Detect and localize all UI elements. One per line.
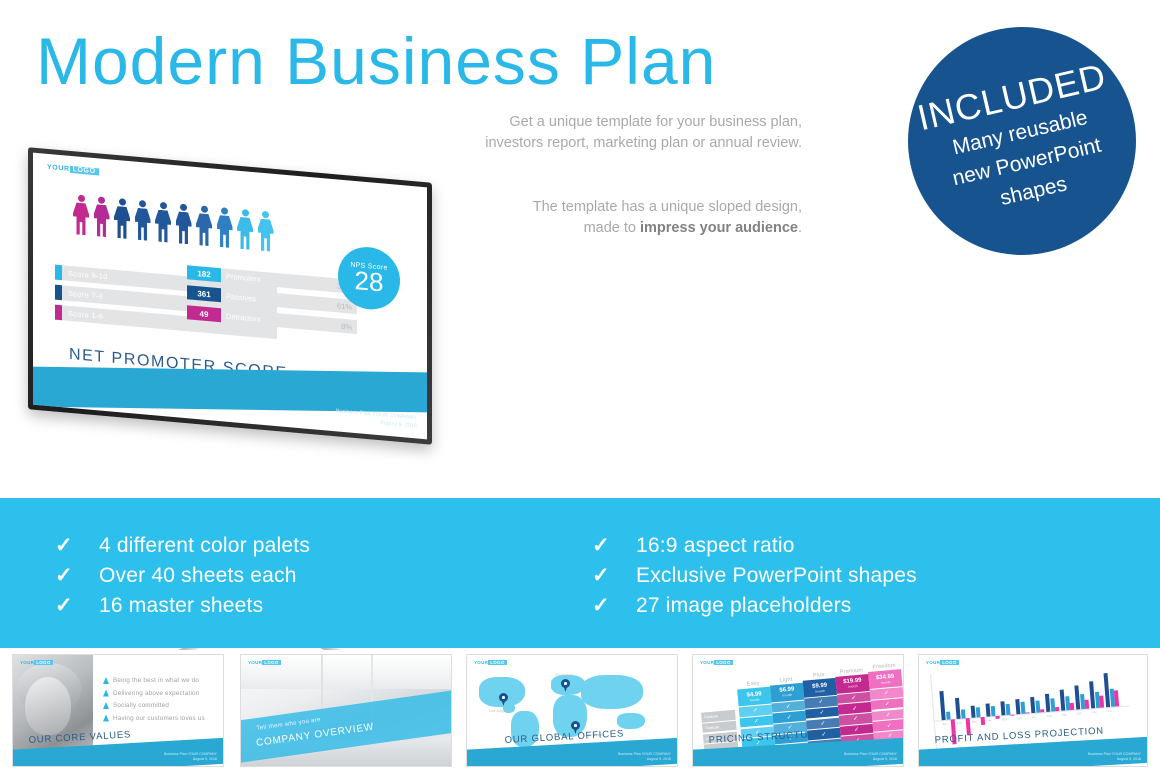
chart-bar [955, 698, 961, 719]
thumbnail-logo: YOURLOGO [248, 660, 281, 665]
person-body [217, 215, 233, 248]
thumbnail-global-offices-inner: YOURLOGO [467, 655, 677, 766]
thumbnail-logo-highlight: LOGO [488, 660, 506, 665]
chart-x-tick: Oct [1076, 711, 1081, 715]
feature-item: ✓16 master sheets [55, 590, 310, 620]
thumbnail-footer-line-2: August 9, 2016 [164, 757, 217, 762]
person-head [262, 211, 269, 219]
feature-item: ✓4 different color palets [55, 530, 310, 560]
chart-bar [975, 707, 980, 717]
thumbnail-logo: YOURLOGO [926, 660, 959, 665]
chart-bar [939, 691, 945, 720]
chart-bar [1011, 714, 1015, 715]
thumbnail-footer-line-2: August 9, 2016 [1088, 757, 1141, 762]
score-range-label: Score 9-10 [62, 268, 108, 281]
person-body [114, 206, 130, 239]
thumbnail-core-values[interactable]: YOURLOGO Being the best in what we doDel… [12, 654, 224, 767]
map-pin-dot [574, 724, 577, 727]
pricing-plan-price: $19.99/month [835, 674, 869, 694]
person-body [196, 213, 212, 246]
core-value-item: Having our customers loves us [103, 715, 205, 722]
person-body [135, 208, 151, 241]
thumbnail-logo: YOURLOGO [20, 660, 53, 665]
chart-x-tick: Mar [972, 719, 977, 723]
thumbnail-logo-prefix: YOUR [248, 660, 262, 665]
map-city-label: Stockholm [555, 673, 574, 677]
pricing-plan-price: $9.99/month [803, 678, 837, 698]
feature-label: Exclusive PowerPoint shapes [636, 565, 917, 586]
core-value-label: Being the best in what we do [113, 677, 199, 684]
features-band: ✓4 different color palets✓Over 40 sheets… [0, 498, 1160, 648]
slide-logo: YOURLOGO [47, 164, 99, 176]
subtitle-line-4-prefix: made to [584, 220, 640, 236]
pricing-plan-price: $4.99/month [737, 687, 771, 707]
score-range-tick [55, 285, 62, 301]
person-head [139, 200, 146, 208]
thumbnail-logo-prefix: YOUR [474, 660, 488, 665]
person-body [155, 209, 171, 242]
score-percent: 8% [341, 321, 352, 331]
person-icon [176, 203, 192, 244]
feature-label: 16:9 aspect ratio [636, 535, 795, 556]
chart-x-tick: Jun [1017, 716, 1022, 720]
score-category-name: Detractors [226, 311, 261, 323]
map-pin-dot [502, 696, 505, 699]
chart-x-tick: Nov [1091, 710, 1097, 714]
score-range-tick [55, 265, 62, 281]
score-count: 49 [187, 305, 221, 322]
core-value-label: Having our customers loves us [113, 715, 205, 722]
tv-screen: YOURLOGO Score 9-10182Promoters31%Score … [33, 153, 427, 440]
person-icon [217, 207, 233, 248]
map-landmass-asia [581, 675, 643, 709]
thumbnail-footer-text: Business Plan YOUR COMPANY August 9, 201… [844, 752, 897, 762]
person-icon [94, 196, 110, 237]
chart-bar [1114, 690, 1119, 707]
bullet-icon [103, 677, 109, 684]
map-landmass-australia [617, 713, 645, 729]
core-value-item: Being the best in what we do [103, 677, 205, 684]
feature-item: ✓Exclusive PowerPoint shapes [592, 560, 917, 590]
people-pictogram [73, 194, 274, 252]
feature-label: 4 different color palets [99, 535, 310, 556]
thumbnail-logo-highlight: LOGO [262, 660, 280, 665]
thumbnail-logo-highlight: LOGO [940, 660, 958, 665]
thumbnail-strip: YOURLOGO Being the best in what we doDel… [0, 650, 1160, 772]
bullet-icon [103, 715, 109, 722]
chart-bar [1050, 698, 1055, 711]
chart-bar [1035, 700, 1040, 712]
check-icon: ✓ [55, 595, 99, 616]
feature-item: ✓27 image placeholders [592, 590, 917, 620]
map-pin-stockholm[interactable] [561, 679, 570, 692]
map-pin-tail [563, 685, 568, 692]
map-pin-dot [564, 682, 567, 685]
chart-x-tick: May [1002, 717, 1008, 721]
check-icon: ✓ [55, 535, 99, 556]
chart-bar [1005, 704, 1010, 715]
tv-body: YOURLOGO Score 9-10182Promoters31%Score … [28, 147, 432, 445]
core-value-label: Socially committed [113, 702, 169, 709]
score-range-label: Score 7-8 [62, 288, 103, 301]
person-icon [135, 200, 151, 241]
thumbnail-pricing-structure[interactable]: YOURLOGO FeatureFeatureFeatureFeatureFea… [692, 654, 904, 767]
features-column-left: ✓4 different color palets✓Over 40 sheets… [55, 530, 310, 620]
person-body [237, 217, 253, 250]
pricing-plan-price: $6.99/month [770, 682, 804, 702]
thumbnail-company-overview-inner: YOURLOGO Tell them who you are COMPANY O… [241, 655, 451, 766]
chart-bar [1055, 707, 1060, 712]
logo-highlight: LOGO [70, 166, 99, 176]
thumbnail-logo-highlight: LOGO [714, 660, 732, 665]
chart-x-tick: Apr [987, 718, 992, 722]
thumbnail-footer-text: Business Plan YOUR COMPANY August 9, 201… [1088, 752, 1141, 762]
chart-bar [996, 716, 1000, 720]
chart-bar [981, 717, 986, 725]
chart-x-tick: Aug [1047, 714, 1053, 718]
core-value-item: Delivering above expectation [103, 690, 205, 697]
included-badge-inner: INCLUDED Many reusable new PowerPoint sh… [908, 27, 1136, 255]
score-range-tick [55, 305, 62, 321]
thumbnail-logo-highlight: LOGO [34, 660, 52, 665]
score-category-name: Passives [226, 291, 256, 303]
thumbnail-logo: YOURLOGO [700, 660, 733, 665]
person-icon [237, 209, 253, 250]
thumbnail-footer-line-2: August 9, 2016 [618, 757, 671, 762]
map-pin-tail [501, 699, 506, 706]
pricing-period: /month [750, 697, 760, 702]
core-values-list: Being the best in what we doDelivering a… [103, 677, 205, 727]
chart-x-tick: Sep [1061, 712, 1067, 716]
feature-item: ✓16:9 aspect ratio [592, 530, 917, 560]
person-head [160, 202, 167, 210]
person-head [78, 195, 85, 203]
chart-bar [961, 710, 966, 719]
page-title: Modern Business Plan [36, 24, 716, 98]
thumbnail-footer-text: Business Plan YOUR COMPANY August 9, 201… [618, 752, 671, 762]
thumbnail-logo: YOURLOGO [474, 660, 507, 665]
chart-bars: JanFebMarAprMayJunJulAugSepOctNovDec [930, 659, 1129, 675]
map-city-label: Los Angeles [489, 709, 511, 713]
thumbnail-company-overview[interactable]: YOURLOGO Tell them who you are COMPANY O… [240, 654, 452, 767]
person-body [176, 211, 192, 244]
tv-mockup: YOURLOGO Score 9-10182Promoters31%Score … [28, 165, 448, 475]
thumbnail-logo-prefix: YOUR [20, 660, 34, 665]
subtitle-line-3: The template has a unique sloped design, [533, 199, 802, 215]
person-head [119, 198, 126, 206]
subtitle-line-4-suffix: . [798, 220, 802, 236]
person-body [94, 204, 110, 237]
chart-x-tick: Jan [942, 722, 947, 726]
bullet-icon [103, 690, 109, 697]
person-icon [196, 205, 212, 246]
subtitle-emphasis: impress your audience [640, 220, 798, 236]
person-head [180, 204, 187, 212]
subtitle-line-2: investors report, marketing plan or annu… [485, 135, 802, 151]
thumbnail-profit-loss[interactable]: YOURLOGO JanFebMarAprMayJunJulAugSepOctN… [918, 654, 1148, 767]
chart-bar [1026, 712, 1030, 713]
person-icon [73, 194, 89, 235]
core-value-item: Socially committed [103, 702, 205, 709]
score-percent: 61% [337, 301, 352, 311]
person-head [221, 207, 228, 215]
check-icon: ✓ [55, 565, 99, 586]
thumbnail-global-offices[interactable]: YOURLOGO [466, 654, 678, 767]
thumbnail-pricing-inner: YOURLOGO FeatureFeatureFeatureFeatureFea… [693, 655, 903, 766]
chart-bar [990, 706, 995, 717]
chart-x-tick: Dec [1106, 709, 1112, 713]
person-icon [155, 201, 171, 242]
chart-x-tick: Feb [957, 721, 962, 725]
logo-prefix: YOUR [47, 164, 70, 173]
person-body [258, 218, 274, 251]
pricing-period: /month [881, 680, 891, 685]
thumbnail-core-values-inner: YOURLOGO Being the best in what we doDel… [13, 655, 223, 766]
person-icon [258, 210, 274, 251]
nps-value: 28 [355, 266, 384, 295]
thumbnail-footer-text: Business Plan YOUR COMPANY August 9, 201… [164, 752, 217, 762]
pricing-plan-price: $34.99/month [868, 669, 902, 689]
bullet-icon [103, 702, 109, 709]
chart-bar [1070, 703, 1075, 710]
check-icon: ✓ [592, 595, 636, 616]
included-badge: INCLUDED Many reusable new PowerPoint sh… [908, 27, 1136, 255]
thumbnail-logo-prefix: YOUR [700, 660, 714, 665]
chart-bar [1020, 702, 1025, 714]
person-icon [114, 198, 130, 239]
thumbnail-profit-loss-inner: YOURLOGO JanFebMarAprMayJunJulAugSepOctN… [919, 655, 1147, 766]
check-icon: ✓ [592, 565, 636, 586]
person-head [201, 205, 208, 213]
map-pin-los-angeles[interactable] [499, 693, 508, 706]
subtitle-line-1: Get a unique template for your business … [509, 114, 802, 130]
chart-x-tick: Jul [1032, 715, 1036, 719]
chart-bar [946, 712, 951, 720]
person-body [73, 202, 89, 235]
chart-bar [1040, 709, 1044, 712]
core-value-label: Delivering above expectation [113, 690, 199, 697]
poster-stage: Modern Business Plan Get a unique templa… [0, 0, 1160, 772]
person-head [98, 196, 105, 204]
chart-bar [1099, 695, 1104, 707]
pricing-period: /month [848, 684, 858, 689]
pricing-period: /month [815, 688, 825, 693]
feature-label: 16 master sheets [99, 595, 263, 616]
chart-bar [1085, 700, 1090, 709]
feature-label: Over 40 sheets each [99, 565, 297, 586]
score-range-label: Score 1-6 [62, 308, 103, 321]
portrait-face [25, 677, 71, 735]
pricing-period: /month [782, 693, 792, 698]
thumbnail-footer-line-2: August 9, 2016 [844, 757, 897, 762]
feature-item: ✓Over 40 sheets each [55, 560, 310, 590]
slide-footer-band [33, 367, 427, 413]
check-icon: ✓ [592, 535, 636, 556]
score-category-name: Promoters [226, 271, 261, 283]
score-count: 361 [187, 285, 221, 302]
person-head [242, 209, 249, 217]
feature-label: 27 image placeholders [636, 595, 852, 616]
score-count: 182 [187, 265, 221, 282]
thumbnail-logo-prefix: YOUR [926, 660, 940, 665]
features-column-right: ✓16:9 aspect ratio✓Exclusive PowerPoint … [592, 530, 917, 620]
